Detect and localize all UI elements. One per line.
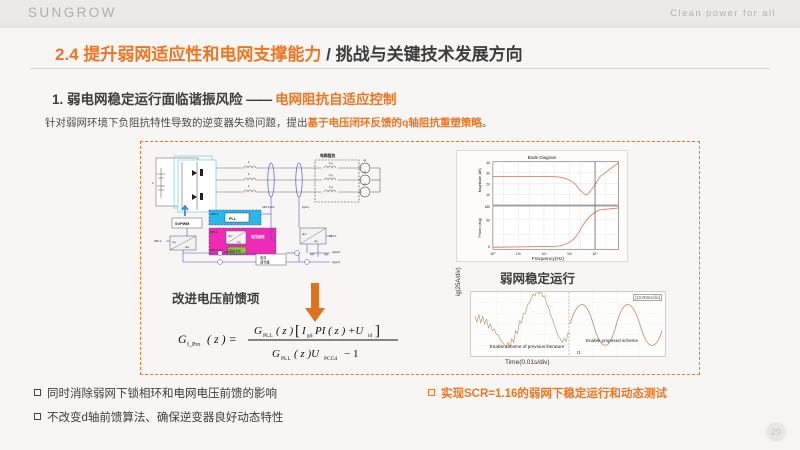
svg-text:[: [: [295, 323, 300, 339]
svg-text:PLL: PLL: [281, 356, 291, 361]
cdc-label: C: [152, 181, 155, 185]
inductor-label-2: L: [248, 172, 250, 176]
grid-inductor-label-3: Lg: [329, 185, 333, 189]
source-label-2: eg: [363, 170, 367, 174]
svpwm-label: SVPWM: [175, 222, 189, 226]
bullet-checkbox-icon: [34, 413, 41, 420]
abc-label-3: abc: [302, 232, 307, 236]
source-label-3: eg: [363, 182, 367, 186]
brand-tagline: Clean power for all: [670, 8, 776, 19]
bode-ytick-90: 90: [486, 219, 490, 223]
grid-inductor-label-1: Lg: [329, 161, 333, 165]
subtitle-dash: ——: [246, 92, 271, 107]
svg-text:PLL: PLL: [263, 333, 273, 339]
grid-impedance-label: 电网阻抗: [320, 153, 335, 158]
bode-plot: Bode Diagram 40 30 20 10 Magnitude (dB): [456, 150, 628, 262]
title-divider: [30, 68, 770, 69]
top-bar: SUNGROW Clean power for all: [0, 0, 800, 28]
abc-label: abc: [185, 245, 190, 249]
waveform-time-marker: t1: [577, 350, 581, 355]
bullet-item-1: 同时消除弱网下锁相环和电网电压前馈的影响: [34, 385, 277, 401]
title-number: 2.4: [55, 45, 79, 64]
svg-text:id: id: [368, 333, 373, 339]
svg-text:− 1: − 1: [344, 348, 358, 360]
bode-xlabel: Frequency(Hz): [532, 256, 565, 261]
title-separator: /: [326, 45, 331, 64]
source-label-1: eg: [363, 158, 367, 162]
formula-label: 改进电压前馈项: [172, 288, 260, 307]
page-title: 2.4 提升弱网适应性和电网支撑能力 / 挑战与关键技术发展方向: [55, 40, 755, 65]
current-regulator-label: 电流: [260, 255, 267, 260]
circuit-diagram: C L L L: [152, 152, 452, 270]
grid-inductor-label-2: Lg: [329, 173, 333, 177]
intro-highlight: 基于电压闭环反馈的q轴阻抗重塑策略: [308, 117, 482, 129]
svg-text:f_Pro: f_Pro: [187, 341, 200, 348]
bullet-text-3: 实现SCR=1.16的弱网下稳定运行和动态测试: [441, 388, 667, 400]
waveform-caption-right: Enable proposed scheme: [565, 338, 659, 343]
dq-label-2: dq: [237, 240, 241, 244]
upcc-d-label: uPCCd: [224, 250, 234, 254]
ig-abc-label: igabc: [302, 205, 310, 209]
inductor-label-1: L: [248, 160, 250, 164]
bode-ytick-30: 30: [486, 172, 490, 176]
intro-before: 针对弱网环境下负阻抗特性导致的逆变器失稳问题，提出: [45, 117, 308, 129]
bullet-item-2: 不改变d轴前馈算法、确保逆变器良好动态特性: [34, 409, 283, 425]
waveform-caption-left: Enable scheme of previous literature: [481, 344, 573, 350]
bullet-text-2: 不改变d轴前馈算法、确保逆变器良好动态特性: [47, 412, 283, 424]
bode-xtick-5: 10⁴: [592, 252, 598, 256]
bode-xtick-4: 10³: [567, 252, 573, 256]
upcc-abc-label-2: uPCCabc: [262, 205, 275, 209]
bode-ytick-180: 180: [484, 205, 490, 209]
bode-ytick-40: 40: [486, 161, 490, 165]
theta-pll-left: θPLL: [154, 239, 162, 243]
bode-xtick-2: 10¹: [516, 252, 522, 256]
igq-label: igq: [324, 252, 329, 256]
dq-abc-label: dq: [172, 240, 176, 244]
waveform-plot: [10.00ms/div] Enable scheme of previous …: [470, 291, 666, 357]
current-regulator-label2: 调节器: [260, 260, 270, 265]
title-main: 提升弱网适应性和电网支撑能力: [83, 45, 321, 64]
title-sub: 挑战与关键技术发展方向: [336, 45, 523, 64]
formula-expression: G f_Pro ( z ) = G PLL ( z ) [ I gd PI ( …: [176, 315, 406, 361]
igd-label: igd: [310, 252, 315, 256]
inductor-label-3: L: [248, 184, 250, 188]
waveform-title: 弱网稳定运行: [500, 268, 575, 287]
igdref-label: igdref: [332, 250, 341, 254]
svg-text:( z ): ( z ): [276, 325, 293, 337]
theta-pll-pink: θPLL: [210, 230, 218, 234]
bode-ylabel-top: Magnitude (dB): [478, 168, 482, 192]
bullet-item-3: 实现SCR=1.16的弱网下稳定运行和动态测试: [428, 385, 667, 401]
bode-xtick-3: 10²: [541, 252, 547, 256]
sungrow-logo: SUNGROW: [28, 5, 117, 20]
waveform-xlabel: Time(0.01s/div): [505, 359, 550, 366]
dq-label-3: dq: [314, 239, 318, 243]
formula-denominator: G: [272, 348, 280, 360]
bullet-text-1: 同时消除弱网下锁相环和电网电压前馈的影响: [47, 388, 277, 400]
slide-root: SUNGROW Clean power for all 2.4 提升弱网适应性和…: [0, 0, 800, 450]
page-number: 29: [766, 422, 786, 442]
svg-text:PCCd: PCCd: [324, 356, 337, 361]
bode-title: Bode Diagram: [528, 155, 557, 160]
formula-numerator: G: [254, 325, 262, 337]
abc-label-2: abc: [228, 234, 233, 238]
theta-pll-blue: θPLL: [211, 212, 219, 216]
bode-ylabel-bottom: Phase (deg): [478, 218, 482, 237]
svg-text:PI ( z ) +U: PI ( z ) +U: [314, 325, 364, 337]
igqref-label: igqref: [332, 260, 341, 264]
svg-text:( z ) =: ( z ) =: [207, 332, 237, 346]
section-subtitle: 1. 弱电网稳定运行面临谐振风险 —— 电网阻抗自适应控制: [52, 88, 397, 108]
formula-lhs: G: [178, 332, 187, 346]
intro-after: 。: [482, 117, 493, 129]
intro-paragraph: 针对弱网环境下负阻抗特性导致的逆变器失稳问题，提出基于电压闭环反馈的q轴阻抗重塑…: [45, 115, 492, 130]
bode-ytick-0: 0: [488, 245, 490, 249]
bode-xtick-1: 10⁰: [490, 252, 496, 256]
pll-label: PLL: [229, 217, 237, 221]
subtitle-text: 弱电网稳定运行面临谐振风险: [67, 92, 243, 107]
bullet-checkbox-icon: [428, 389, 435, 396]
svg-text:]: ]: [375, 323, 380, 339]
waveform-ylabel: ig(25A/div): [456, 267, 462, 296]
svg-text:( z )U: ( z )U: [294, 348, 320, 360]
bode-ytick-20: 20: [486, 182, 490, 186]
subtitle-index: 1.: [52, 92, 63, 107]
voltage-feedforward-label: 电压前馈: [251, 234, 265, 239]
bullet-checkbox-icon: [34, 389, 41, 396]
subtitle-highlight: 电网阻抗自适应控制: [275, 92, 397, 107]
svg-text:gd: gd: [307, 333, 313, 339]
bode-ytick-10: 10: [486, 193, 490, 197]
